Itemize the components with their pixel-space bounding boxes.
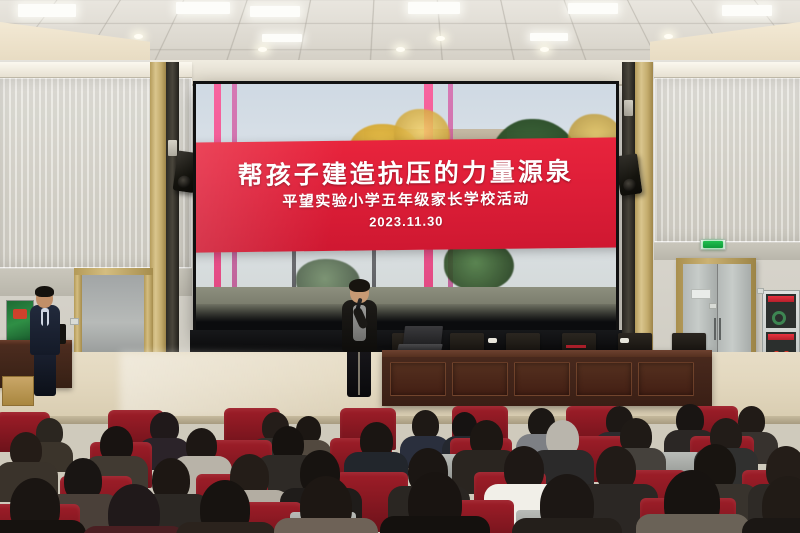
table-panel [390, 362, 446, 396]
fire-cabinet-label [768, 334, 794, 340]
ceiling-panel-light [408, 2, 460, 14]
ceiling-panel-light [176, 2, 230, 14]
table-panel [638, 362, 694, 396]
audience-shoulders-front [636, 514, 750, 533]
ceiling-downlight [396, 47, 405, 52]
door-notice-sign [691, 289, 711, 299]
table-panel [576, 362, 632, 396]
ceiling-downlight [134, 34, 143, 39]
audience-seating-area [0, 392, 800, 533]
table-microphone [488, 338, 497, 343]
conference-table-top [382, 350, 712, 357]
acoustic-panel-right [654, 78, 800, 242]
fire-hose-reel-icon [772, 311, 786, 325]
banner-title: 帮孩子建造抗压的力量源泉 [238, 159, 574, 189]
exit-door-handle [719, 318, 721, 340]
exit-sign-glyph [703, 241, 723, 248]
ceiling-downlight [258, 47, 267, 52]
table-panel [452, 362, 508, 396]
audience-shoulders-front [82, 526, 186, 533]
right-wall-switch [757, 288, 764, 294]
banner-date: 2023.11.30 [369, 214, 444, 230]
ceiling-downlight [540, 47, 549, 52]
staff-legs [34, 352, 56, 396]
ceiling-panel-light [722, 5, 772, 16]
presenter [334, 281, 384, 399]
fire-cabinet-upper-cell [766, 294, 796, 328]
presenter-leg-gap [358, 351, 360, 395]
ceiling-panel-light [250, 6, 300, 17]
audience-shoulders-front [380, 516, 490, 533]
ceiling-panel-light [262, 34, 302, 42]
auditorium-photo: 帮孩子建造抗压的力量源泉 平望实验小学五年级家长学校活动 2023.11.30 [0, 0, 800, 533]
ceiling-downlight [436, 36, 445, 41]
table-panel [514, 362, 570, 396]
door-lock-plate [709, 303, 717, 309]
ceiling-panel-light [18, 4, 76, 17]
table-microphone [620, 338, 629, 343]
banner-subtitle: 平望实验小学五年级家长学校活动 [282, 188, 530, 212]
audience-shoulders-front [176, 522, 276, 533]
led-screen: 帮孩子建造抗压的力量源泉 平望实验小学五年级家长学校活动 2023.11.30 [196, 84, 616, 334]
wall-bay-head-right [654, 62, 800, 78]
column-plate-left [168, 140, 177, 156]
fire-cabinet-label [768, 296, 794, 302]
audience-shoulders-front [0, 520, 86, 533]
exit-door-right-leaf [717, 264, 751, 366]
staff-hair [35, 286, 54, 297]
left-wall-switch [70, 318, 79, 325]
ceiling-downlight [664, 34, 673, 39]
ceiling-panel-light [530, 33, 568, 41]
ceiling-panel-light [568, 3, 618, 14]
exit-sign-right [700, 239, 726, 250]
laptop-screen [403, 326, 443, 345]
column-dark-left [166, 62, 179, 362]
event-banner: 帮孩子建造抗压的力量源泉 平望实验小学五年级家长学校活动 2023.11.30 [196, 137, 616, 252]
left-corridor-header [74, 268, 153, 275]
table-red-marker [566, 345, 586, 348]
audience-shoulders-front [512, 518, 622, 533]
screen-soffit [150, 60, 650, 86]
exit-door-handle [714, 318, 716, 340]
presenter-hair [349, 279, 370, 292]
audience-shoulders-front [274, 518, 378, 533]
staff-tie [43, 312, 47, 328]
column-gold-right [635, 62, 653, 354]
column-plate-right [624, 100, 633, 116]
staff-member-left [28, 288, 68, 398]
exit-door-split [717, 264, 718, 366]
audience-shoulders-front [742, 518, 800, 533]
